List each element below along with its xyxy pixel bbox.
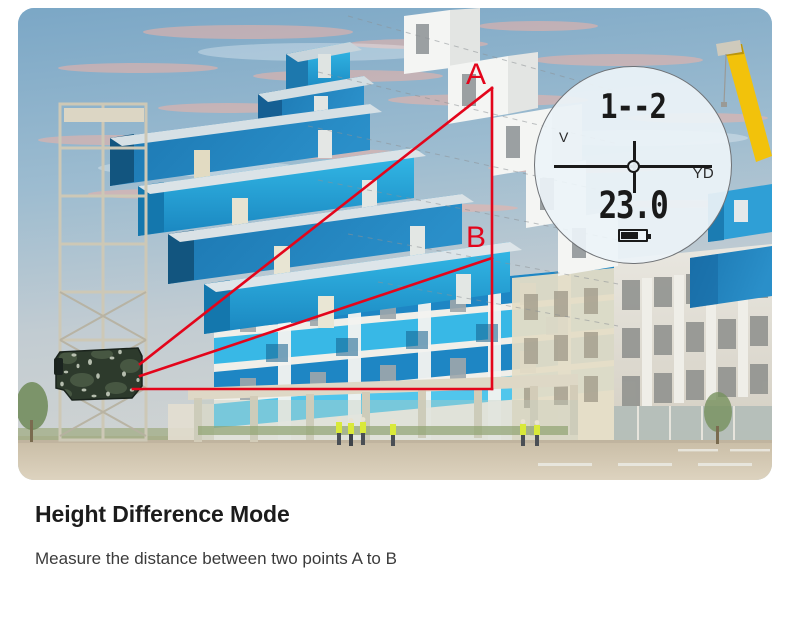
caption-block: Height Difference Mode Measure the dista… — [35, 500, 755, 570]
measurement-value-display: 23.0 — [535, 184, 731, 227]
mode-display: 1--2 — [535, 86, 731, 126]
rangefinder-scope-view: 1--2 V YD 23.0 — [534, 66, 732, 264]
page-root: A B 1--2 V YD 23.0 Height Difference Mod… — [0, 0, 790, 623]
vertical-unit-label: V — [559, 129, 568, 145]
battery-fill — [621, 232, 637, 238]
caption-title: Height Difference Mode — [35, 500, 755, 529]
caption-subtitle: Measure the distance between two points … — [35, 529, 755, 570]
camouflage-rangefinder-device — [54, 346, 144, 404]
crosshair-center-dot-icon — [627, 160, 640, 173]
battery-icon — [618, 229, 648, 242]
